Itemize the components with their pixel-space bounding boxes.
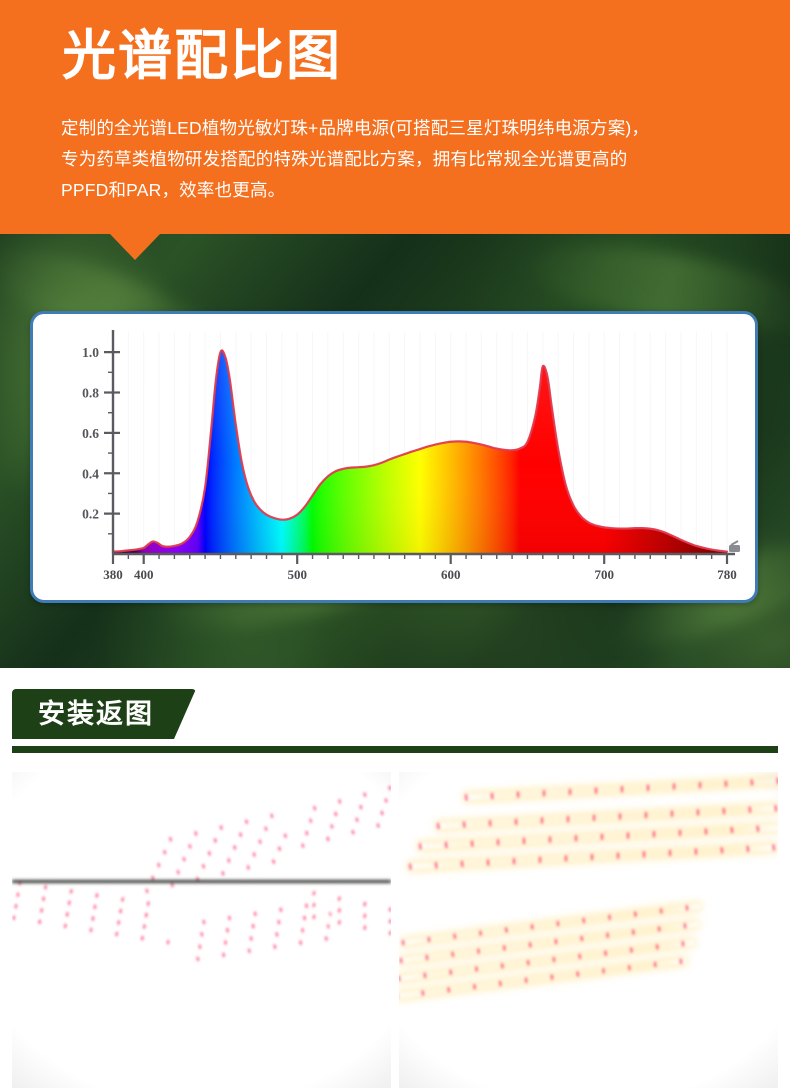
y-axis-tick-label: 0.2 [82, 507, 99, 522]
header-description-line: 专为药草类植物研发搭配的特殊光谱配比方案，拥有比常规全光谱更高的 [61, 144, 761, 175]
photo-gallery [12, 772, 778, 1088]
x-axis-tick-label: 400 [134, 567, 154, 582]
led-bar [419, 825, 778, 850]
header-description-line: PPFD和PAR，效率也更高。 [61, 175, 761, 206]
led-bar [313, 782, 391, 811]
y-axis-tick-label: 0.8 [82, 386, 99, 401]
led-tube [27, 773, 97, 807]
y-axis-tick-label: 1.0 [82, 345, 99, 360]
y-axis-tick-label: 0.6 [82, 426, 99, 441]
led-bar [197, 935, 338, 961]
x-axis-tick-label: 500 [287, 567, 307, 582]
spectrum-header-banner: 光谱配比图 定制的全光谱LED植物光敏灯珠+品牌电源(可搭配三星灯珠明纬电源方案… [0, 0, 790, 234]
x-axis-tick-label: 380 [103, 567, 123, 582]
page-title: 光谱配比图 [62, 24, 342, 88]
header-description: 定制的全光谱LED植物光敏灯珠+品牌电源(可搭配三星灯珠明纬电源方案)， 专为药… [61, 113, 761, 206]
spectrum-chart-card: 3804005006007007800.20.40.60.81.0 [30, 311, 758, 603]
led-bar [437, 805, 778, 829]
y-axis-tick-label: 0.4 [82, 466, 99, 481]
photo-led-over-canopy [399, 772, 778, 1088]
photo-grow-room-ceiling [12, 772, 391, 1088]
spectrum-chart: 3804005006007007800.20.40.60.81.0 [33, 314, 755, 600]
section-divider-rule [12, 746, 778, 753]
led-bar [399, 958, 686, 999]
section-badge-install: 安装返图 [12, 689, 196, 739]
ceiling-rail [12, 880, 391, 883]
header-description-line: 定制的全光谱LED植物光敏灯珠+品牌电源(可搭配三星灯珠明纬电源方案)， [61, 113, 761, 144]
section-badge-wrap: 安装返图 [12, 689, 196, 739]
photo-vignette [12, 772, 391, 1088]
header-pointer-triangle [110, 234, 160, 260]
x-axis-tick-label: 600 [441, 567, 461, 582]
led-bar [465, 778, 778, 801]
led-bar [409, 844, 777, 869]
install-photos-section: 安装返图 [0, 668, 790, 1092]
x-axis-tick-label: 780 [717, 567, 737, 582]
x-axis-tick-label: 700 [594, 567, 614, 582]
